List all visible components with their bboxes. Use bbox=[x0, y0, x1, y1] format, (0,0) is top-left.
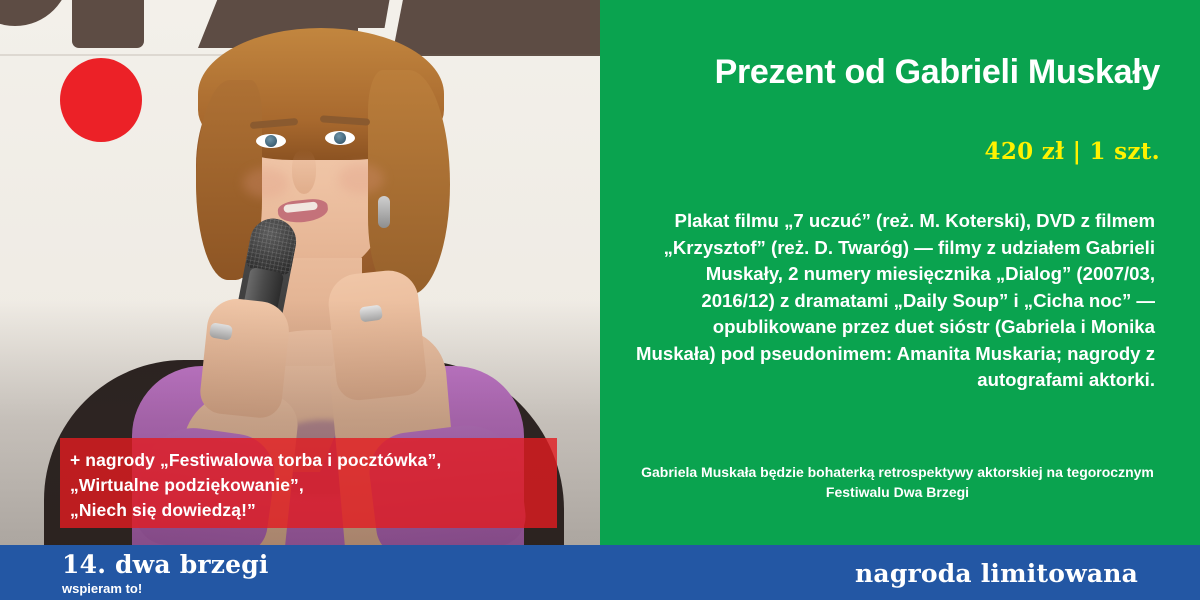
speaker-photo: + nagrody „Festiwalowa torba i pocztówka… bbox=[0, 0, 600, 600]
campaign-reward-poster: + nagrody „Festiwalowa torba i pocztówka… bbox=[0, 0, 1200, 600]
reward-note: Gabriela Muskała będzie bohaterką retros… bbox=[630, 462, 1175, 502]
cheek-left bbox=[243, 168, 289, 198]
eye-left bbox=[256, 134, 286, 148]
reward-details-panel: Prezent od Gabrieli Muskały 420 zł | 1 s… bbox=[600, 0, 1200, 600]
caption-line-2: „Wirtualne podziękowanie”, bbox=[70, 473, 557, 498]
caption-line-1: + nagrody „Festiwalowa torba i pocztówka… bbox=[70, 448, 557, 473]
footer-bar: 14. dwa brzegi wspieram to! nagroda limi… bbox=[0, 545, 1200, 600]
cheek-right bbox=[338, 164, 384, 194]
caption-line-3: „Niech się dowiedzą!” bbox=[70, 498, 557, 523]
extra-rewards-caption: + nagrody „Festiwalowa torba i pocztówka… bbox=[60, 438, 557, 528]
earring bbox=[378, 196, 390, 228]
reward-description: Plakat filmu „7 uczuć” (reż. M. Koterski… bbox=[630, 208, 1175, 394]
limited-reward-badge: nagroda limitowana bbox=[855, 559, 1138, 588]
festival-brand: 14. dwa brzegi wspieram to! bbox=[62, 551, 269, 597]
festival-name: 14. dwa brzegi bbox=[62, 551, 269, 579]
reward-price: 420 zł | 1 szt. bbox=[620, 138, 1180, 165]
reward-title: Prezent od Gabrieli Muskały bbox=[620, 52, 1180, 92]
eye-right bbox=[325, 131, 355, 145]
nose bbox=[292, 150, 316, 194]
festival-tagline: wspieram to! bbox=[62, 580, 269, 597]
